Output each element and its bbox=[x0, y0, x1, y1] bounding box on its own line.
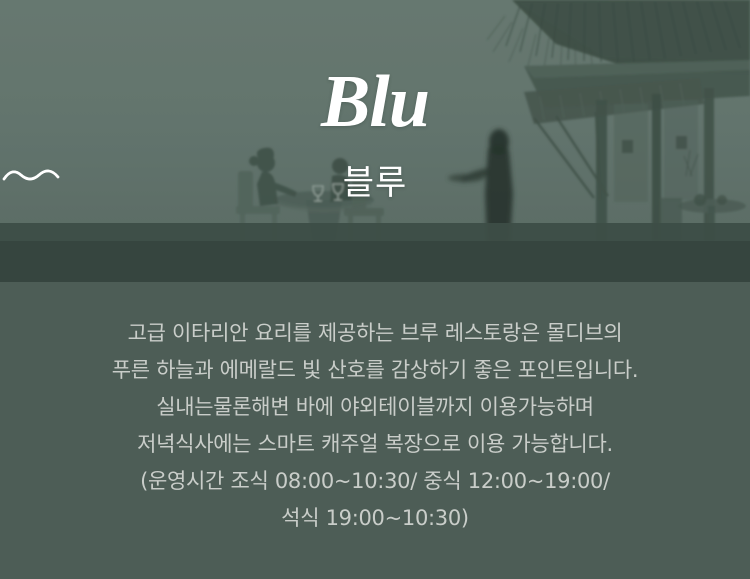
description-text: 고급 이타리안 요리를 제공하는 브루 레스토랑은 몰디브의 푸른 하늘과 에메… bbox=[0, 315, 750, 537]
description-line: 저녁식사에는 스마트 캐주얼 복장으로 이용 가능합니다. bbox=[0, 426, 750, 463]
description-line: 석식 19:00~10:30) bbox=[0, 500, 750, 537]
brand-title: Blu bbox=[0, 62, 750, 142]
brand-subtitle-row: 블루 bbox=[0, 163, 750, 203]
section-divider-band bbox=[0, 241, 750, 282]
description-line: 실내는물론해변 바에 야외테이블까지 이용가능하며 bbox=[0, 389, 750, 426]
description-line: (운영시간 조식 08:00~10:30/ 중식 12:00~19:00/ bbox=[0, 463, 750, 500]
brand-subtitle-text: 블루 bbox=[343, 163, 408, 203]
description-section: 고급 이타리안 요리를 제공하는 브루 레스토랑은 몰디브의 푸른 하늘과 에메… bbox=[0, 282, 750, 579]
hero-banner: Blu 블루 bbox=[0, 0, 750, 241]
swash-tilde-ornament-right bbox=[0, 163, 62, 189]
description-line: 고급 이타리안 요리를 제공하는 브루 레스토랑은 몰디브의 bbox=[0, 315, 750, 352]
blu-restaurant-page: Blu 블루 고급 이타리안 요리를 제공하는 브루 레스토랑은 몰디브의 푸른… bbox=[0, 0, 750, 579]
description-line: 푸른 하늘과 에메랄드 빛 산호를 감상하기 좋은 포인트입니다. bbox=[0, 352, 750, 389]
